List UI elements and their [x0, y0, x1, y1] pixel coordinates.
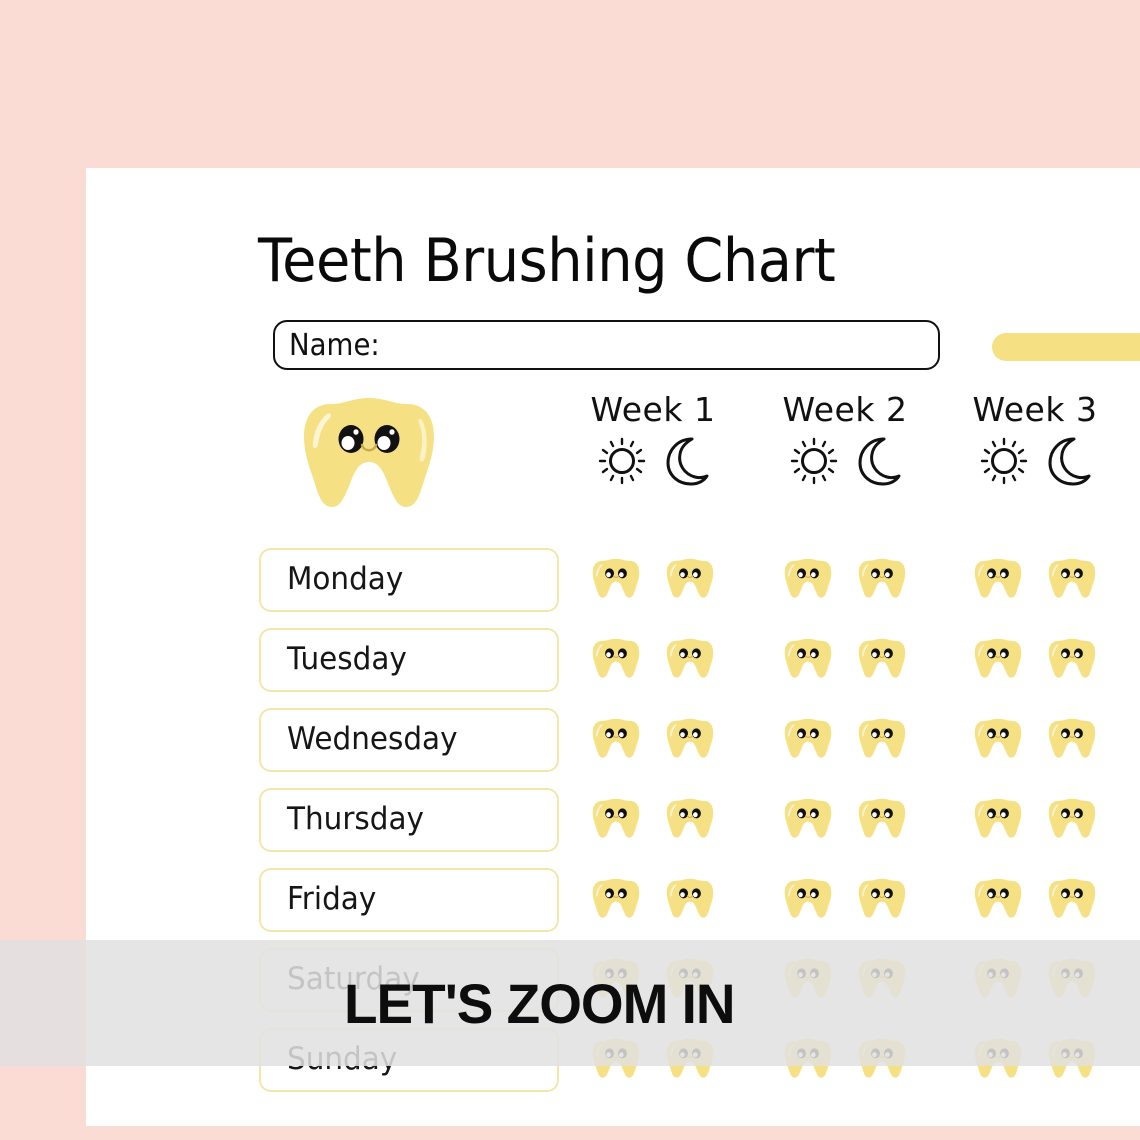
tooth-checkbox-cell — [940, 951, 1130, 1009]
tooth-icon[interactable] — [783, 1031, 833, 1085]
moon-icon — [854, 435, 902, 487]
tooth-icon[interactable] — [973, 551, 1023, 605]
tooth-checkbox-cell — [750, 711, 940, 769]
week-label: Week 1 — [558, 390, 748, 429]
page-title: Teeth Brushing Chart — [258, 226, 909, 296]
day-label: Tuesday — [287, 641, 407, 677]
tooth-icon[interactable] — [591, 791, 641, 845]
tooth-icon[interactable] — [973, 711, 1023, 765]
tooth-icon[interactable] — [857, 871, 907, 925]
day-label: Wednesday — [287, 721, 458, 757]
day-label: Saturday — [287, 961, 420, 997]
tooth-icon[interactable] — [783, 791, 833, 845]
tooth-icon[interactable] — [591, 631, 641, 685]
name-input-field[interactable]: Name: — [273, 320, 940, 370]
tooth-icon[interactable] — [1047, 551, 1097, 605]
tooth-checkbox-cell — [558, 1031, 748, 1089]
day-label: Friday — [287, 881, 376, 917]
day-row: Thursday — [86, 788, 1140, 852]
day-label: Sunday — [287, 1041, 397, 1077]
tooth-checkbox-cell — [558, 951, 748, 1009]
tooth-icon[interactable] — [591, 711, 641, 765]
week-label: Week 3 — [940, 390, 1130, 429]
tooth-checkbox-cell — [940, 711, 1130, 769]
tooth-checkbox-cell — [940, 551, 1130, 609]
week-label: Week 2 — [750, 390, 940, 429]
tooth-checkbox-cell — [558, 791, 748, 849]
tooth-icon[interactable] — [783, 631, 833, 685]
tooth-icon[interactable] — [857, 951, 907, 1005]
tooth-icon[interactable] — [1047, 631, 1097, 685]
tooth-icon[interactable] — [857, 631, 907, 685]
week-column-header: Week 3 — [940, 390, 1130, 487]
tooth-icon[interactable] — [783, 551, 833, 605]
tooth-icon[interactable] — [857, 711, 907, 765]
tooth-icon[interactable] — [591, 951, 641, 1005]
tooth-icon[interactable] — [973, 871, 1023, 925]
tooth-checkbox-cell — [750, 551, 940, 609]
tooth-checkbox-cell — [750, 871, 940, 929]
tooth-icon[interactable] — [783, 951, 833, 1005]
tooth-checkbox-cell — [940, 871, 1130, 929]
tooth-icon[interactable] — [665, 631, 715, 685]
sun-icon — [788, 435, 840, 487]
day-label-box[interactable]: Wednesday — [259, 708, 559, 772]
tooth-icon[interactable] — [973, 1031, 1023, 1085]
day-label-box[interactable]: Sunday — [259, 1028, 559, 1092]
day-label: Monday — [287, 561, 403, 597]
tooth-icon[interactable] — [591, 871, 641, 925]
tooth-checkbox-cell — [750, 1031, 940, 1089]
tooth-checkbox-cell — [940, 1031, 1130, 1089]
tooth-checkbox-cell — [940, 791, 1130, 849]
daypart-icon-group — [750, 435, 940, 487]
tooth-icon[interactable] — [1047, 871, 1097, 925]
sun-icon — [978, 435, 1030, 487]
chart-card: Teeth Brushing Chart Name: Week 1 — [86, 168, 1140, 1126]
tooth-checkbox-cell — [750, 631, 940, 689]
screenshot-stage: Teeth Brushing Chart Name: Week 1 — [0, 0, 1140, 1140]
day-row: Saturday — [86, 948, 1140, 1012]
tooth-checkbox-cell — [940, 631, 1130, 689]
tooth-icon[interactable] — [857, 791, 907, 845]
name-label: Name: — [289, 328, 380, 363]
day-label-box[interactable]: Friday — [259, 868, 559, 932]
tooth-mascot-icon — [299, 393, 439, 508]
moon-icon — [662, 435, 710, 487]
tooth-icon[interactable] — [973, 951, 1023, 1005]
day-label: Thursday — [287, 801, 424, 837]
moon-icon — [1044, 435, 1092, 487]
tooth-icon[interactable] — [591, 1031, 641, 1085]
tooth-icon[interactable] — [665, 1031, 715, 1085]
day-label-box[interactable]: Monday — [259, 548, 559, 612]
day-row: Friday — [86, 868, 1140, 932]
tooth-icon[interactable] — [1047, 1031, 1097, 1085]
tooth-checkbox-cell — [558, 631, 748, 689]
tooth-icon[interactable] — [665, 551, 715, 605]
tooth-icon[interactable] — [857, 551, 907, 605]
tooth-checkbox-cell — [750, 791, 940, 849]
week-column-header: Week 2 — [750, 390, 940, 487]
day-label-box[interactable]: Thursday — [259, 788, 559, 852]
tooth-icon[interactable] — [783, 871, 833, 925]
tooth-checkbox-cell — [750, 951, 940, 1009]
tooth-checkbox-cell — [558, 551, 748, 609]
tooth-icon[interactable] — [783, 711, 833, 765]
day-row: Sunday — [86, 1028, 1140, 1092]
tooth-checkbox-cell — [558, 871, 748, 929]
tooth-checkbox-cell — [558, 711, 748, 769]
tooth-icon[interactable] — [665, 871, 715, 925]
day-label-box[interactable]: Tuesday — [259, 628, 559, 692]
tooth-icon[interactable] — [665, 711, 715, 765]
day-row: Wednesday — [86, 708, 1140, 772]
tooth-icon[interactable] — [665, 951, 715, 1005]
daypart-icon-group — [940, 435, 1130, 487]
day-label-box[interactable]: Saturday — [259, 948, 559, 1012]
tooth-icon[interactable] — [1047, 711, 1097, 765]
tooth-icon[interactable] — [1047, 791, 1097, 845]
day-row: Tuesday — [86, 628, 1140, 692]
daypart-icon-group — [558, 435, 748, 487]
tooth-icon[interactable] — [973, 791, 1023, 845]
sun-icon — [596, 435, 648, 487]
tooth-icon[interactable] — [665, 791, 715, 845]
week-column-header: Week 1 — [558, 390, 748, 487]
tooth-icon[interactable] — [1047, 951, 1097, 1005]
tooth-icon[interactable] — [857, 1031, 907, 1085]
tooth-icon[interactable] — [973, 631, 1023, 685]
tooth-icon[interactable] — [591, 551, 641, 605]
yellow-pill-decoration — [992, 333, 1140, 361]
day-row: Monday — [86, 548, 1140, 612]
